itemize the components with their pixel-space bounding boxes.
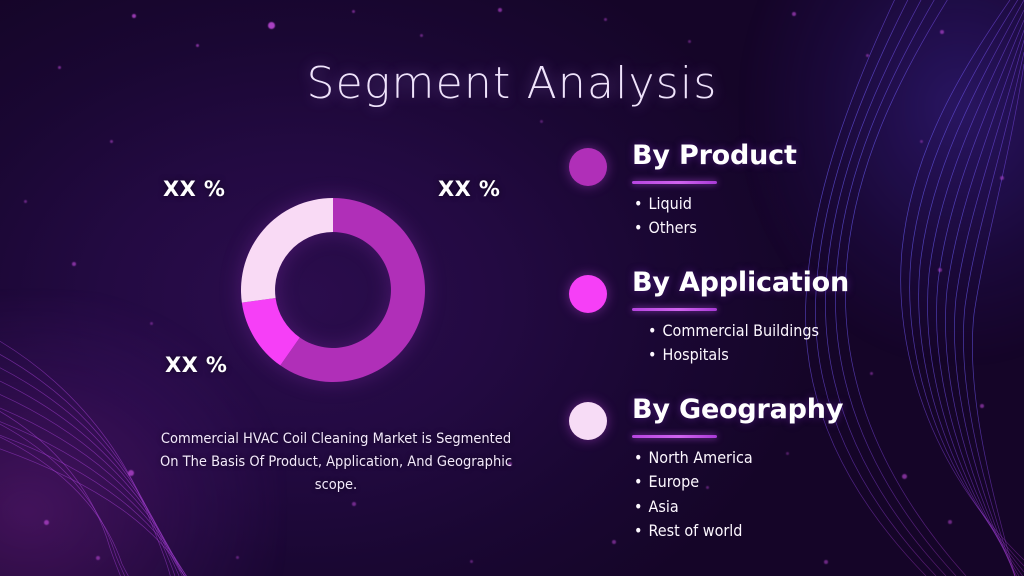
list-item: Europe xyxy=(634,470,753,494)
list-item: Liquid xyxy=(634,192,697,216)
list-item: Others xyxy=(634,216,697,240)
donut-slice-by-geography[interactable] xyxy=(241,198,333,303)
legend-underline-by-geography xyxy=(632,435,717,438)
legend-items-by-geography: North America Europe Asia Rest of world xyxy=(634,446,753,543)
legend-underline-by-application xyxy=(632,308,717,311)
legend-dot-by-application xyxy=(569,275,607,313)
page-title: Segment Analysis xyxy=(0,58,1024,109)
legend-items-by-application: Commercial Buildings Hospitals xyxy=(648,319,819,368)
donut-chart-svg xyxy=(241,198,425,382)
donut-label-geography: XX % xyxy=(163,177,225,201)
list-item: North America xyxy=(634,446,753,470)
slide-canvas: Segment Analysis XX % XX % XX % Commerci… xyxy=(0,0,1024,576)
legend-dot-by-product xyxy=(569,148,607,186)
list-item: Asia xyxy=(634,495,753,519)
donut-chart xyxy=(241,198,425,382)
list-item: Commercial Buildings xyxy=(648,319,819,343)
glow-right xyxy=(744,0,1024,360)
chart-caption: Commercial HVAC Coil Cleaning Market is … xyxy=(150,428,522,497)
donut-label-product: XX % xyxy=(438,177,500,201)
legend-heading-by-product: By Product xyxy=(632,140,797,171)
list-item: Rest of world xyxy=(634,519,753,543)
legend-underline-by-product xyxy=(632,181,717,184)
legend-heading-by-application: By Application xyxy=(632,267,849,298)
legend-dot-by-geography xyxy=(569,402,607,440)
list-item: Hospitals xyxy=(648,343,819,367)
donut-label-application: XX % xyxy=(165,353,227,377)
legend-items-by-product: Liquid Others xyxy=(634,192,697,241)
legend-heading-by-geography: By Geography xyxy=(632,394,843,425)
